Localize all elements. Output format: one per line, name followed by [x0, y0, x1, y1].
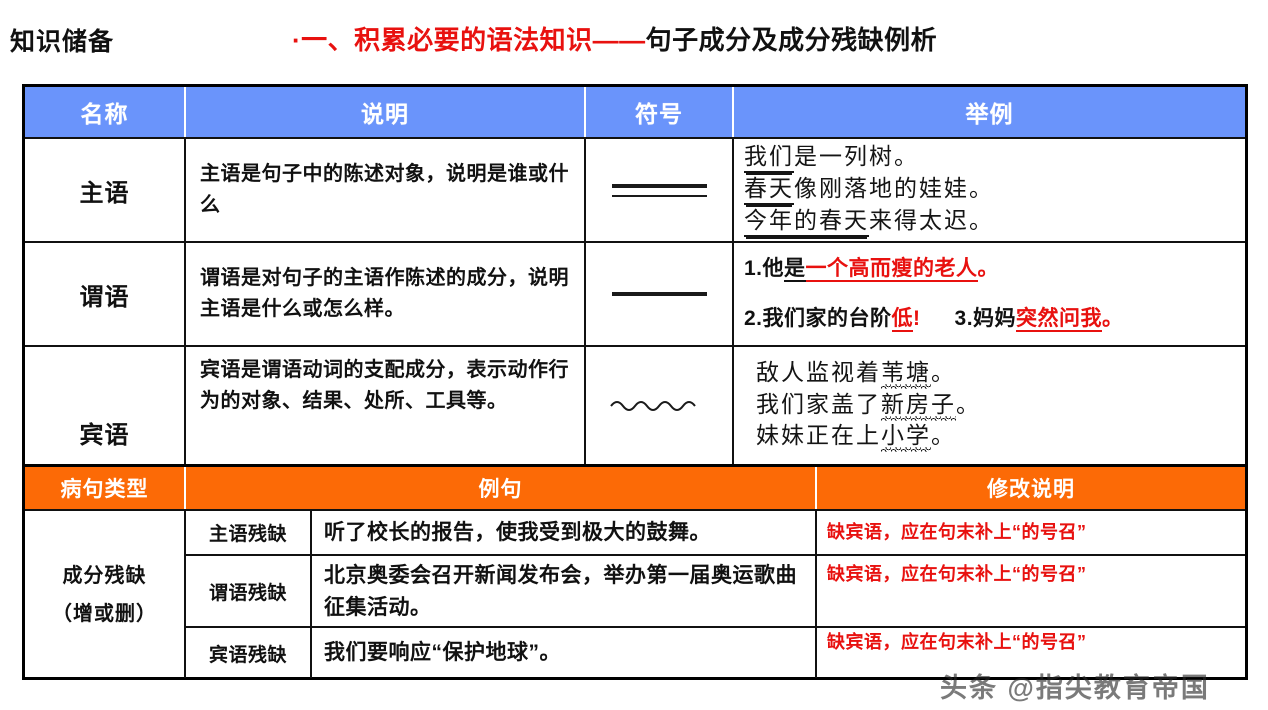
column-header-example-sentence: 例句 — [184, 467, 815, 509]
predicate-num-1: 1.他 — [744, 257, 784, 280]
page-title-black: 句子成分及成分残缺例析 — [646, 25, 938, 55]
predicate-red-1: 一个高而瘦的老人 — [806, 257, 978, 282]
row-desc-object: 宾语是谓语动词的支配成分，表示动作行为的对象、结果、处所、工具等。 — [184, 347, 584, 464]
error-sentence-2: 北京奥委会召开新闻发布会，举办第一届奥运歌曲征集活动。 — [310, 556, 815, 626]
error-subtype-2: 谓语残缺 — [184, 556, 310, 626]
subject-underline-1: 我们 — [744, 144, 794, 173]
page-section-label: 知识储备 — [10, 22, 114, 58]
predicate-tail-1: 。 — [978, 257, 1000, 280]
error-subtype-3: 宾语残缺 — [184, 628, 310, 678]
slide-header: 知识储备 ·一、积累必要的语法知识——句子成分及成分残缺例析 — [0, 18, 1268, 70]
subject-rest-3: 来得太迟。 — [869, 208, 994, 234]
predicate-red-3: 突然问我 — [1016, 307, 1102, 332]
single-underline-icon — [612, 292, 707, 296]
error-subtype-1: 主语残缺 — [184, 511, 310, 554]
object-post-2: 。 — [956, 392, 981, 418]
row-name-subject: 主语 — [25, 139, 184, 241]
object-wavy-2: 新房子 — [881, 392, 956, 421]
row-desc-subject: 主语是句子中的陈述对象，说明是谁或什么 — [184, 139, 584, 241]
wavy-underline-icon — [609, 397, 709, 415]
table-row-predicate: 谓语 谓语是对句子的主语作陈述的成分，说明主语是什么或怎么样。 1.他是一个高而… — [25, 243, 1245, 347]
error-type-line2: （增或删） — [52, 595, 157, 633]
predicate-black-underline: 是 — [784, 257, 806, 282]
predicate-tail-3: 。 — [1102, 307, 1124, 330]
predicate-red-2: 低 — [892, 307, 914, 332]
subject-rest-2: 像刚落地的娃娃。 — [794, 176, 994, 202]
column-header-fix-note: 修改说明 — [815, 467, 1245, 509]
double-underline-icon — [612, 184, 707, 197]
error-fix-1: 缺宾语，应在句末补上“的号召” — [815, 511, 1245, 554]
column-header-example: 举例 — [732, 87, 1245, 137]
subject-underline-2: 春天 — [744, 176, 794, 205]
example-text-object: 敌人监视着苇塘。 我们家盖了新房子。 妹妹正在上小学。 — [756, 358, 981, 453]
object-pre-3: 妹妹正在上 — [756, 423, 881, 449]
error-type-line1: 成分残缺 — [63, 557, 147, 595]
object-wavy-1: 苇塘 — [881, 360, 931, 389]
row-name-predicate: 谓语 — [25, 243, 184, 345]
example-text-subject: 我们是一列树。 春天像刚落地的娃娃。 今年的春天来得太迟。 — [744, 142, 994, 237]
error-table-body: 成分残缺 （增或删） 主语残缺 听了校长的报告，使我受到极大的鼓舞。 缺宾语，应… — [25, 511, 1245, 678]
error-fix-2: 缺宾语，应在句末补上“的号召” — [815, 556, 1245, 626]
example-text-predicate: 1.他是一个高而瘦的老人。 2.我们家的台阶低!3.妈妈突然问我。 — [744, 252, 1124, 335]
table-row-subject: 主语 主语是句子中的陈述对象，说明是谁或什么 我们是一列树。 春天像刚落地的娃娃… — [25, 139, 1245, 243]
row-example-object: 敌人监视着苇塘。 我们家盖了新房子。 妹妹正在上小学。 — [732, 347, 1245, 464]
row-name-object: 宾语 — [25, 347, 184, 464]
table-row-object: 宾语 宾语是谓语动词的支配成分，表示动作行为的对象、结果、处所、工具等。 敌人监… — [25, 347, 1245, 467]
column-header-desc: 说明 — [184, 87, 584, 137]
predicate-num-2: 2.我们家的台阶 — [744, 307, 892, 330]
row-symbol-subject — [584, 139, 732, 241]
column-header-symbol: 符号 — [584, 87, 732, 137]
object-pre-2: 我们家盖了 — [756, 392, 881, 418]
row-symbol-object — [584, 347, 732, 464]
error-type-label: 成分残缺 （增或删） — [25, 511, 184, 678]
subject-rest-1: 是一列树。 — [794, 144, 919, 170]
object-pre-1: 敌人监视着 — [756, 360, 881, 386]
object-post-1: 。 — [931, 360, 956, 386]
grammar-components-table: 名称 说明 符号 举例 主语 主语是句子中的陈述对象，说明是谁或什么 我们是一列… — [22, 84, 1248, 680]
object-post-3: 。 — [931, 423, 956, 449]
error-sentence-3: 我们要响应“保护地球”。 — [310, 628, 815, 678]
column-header-error-type: 病句类型 — [25, 467, 184, 509]
page-title-red: ·一、积累必要的语法知识—— — [292, 25, 646, 55]
table-row-error-2: 谓语残缺 北京奥委会召开新闻发布会，举办第一届奥运歌曲征集活动。 缺宾语，应在句… — [184, 556, 1245, 628]
table-row-error-1: 主语残缺 听了校长的报告，使我受到极大的鼓舞。 缺宾语，应在句末补上“的号召” — [184, 511, 1245, 556]
predicate-tail-2: ! — [913, 307, 921, 330]
page-title: ·一、积累必要的语法知识——句子成分及成分残缺例析 — [292, 20, 937, 57]
row-desc-predicate: 谓语是对句子的主语作陈述的成分，说明主语是什么或怎么样。 — [184, 243, 584, 345]
watermark: 头条 @指尖教育帝国 — [940, 666, 1210, 705]
subject-underline-3: 今年的春天 — [744, 208, 869, 237]
object-wavy-3: 小学 — [881, 423, 931, 452]
column-header-name: 名称 — [25, 87, 184, 137]
slide-page: 知识储备 ·一、积累必要的语法知识——句子成分及成分残缺例析 名称 说明 符号 … — [0, 0, 1268, 710]
predicate-num-3: 3.妈妈 — [955, 307, 1017, 330]
row-symbol-predicate — [584, 243, 732, 345]
table-header-row: 名称 说明 符号 举例 — [25, 87, 1245, 139]
error-table-header-row: 病句类型 例句 修改说明 — [25, 467, 1245, 511]
row-example-subject: 我们是一列树。 春天像刚落地的娃娃。 今年的春天来得太迟。 — [732, 139, 1245, 241]
row-example-predicate: 1.他是一个高而瘦的老人。 2.我们家的台阶低!3.妈妈突然问我。 — [732, 243, 1245, 345]
error-sentence-1: 听了校长的报告，使我受到极大的鼓舞。 — [310, 511, 815, 554]
